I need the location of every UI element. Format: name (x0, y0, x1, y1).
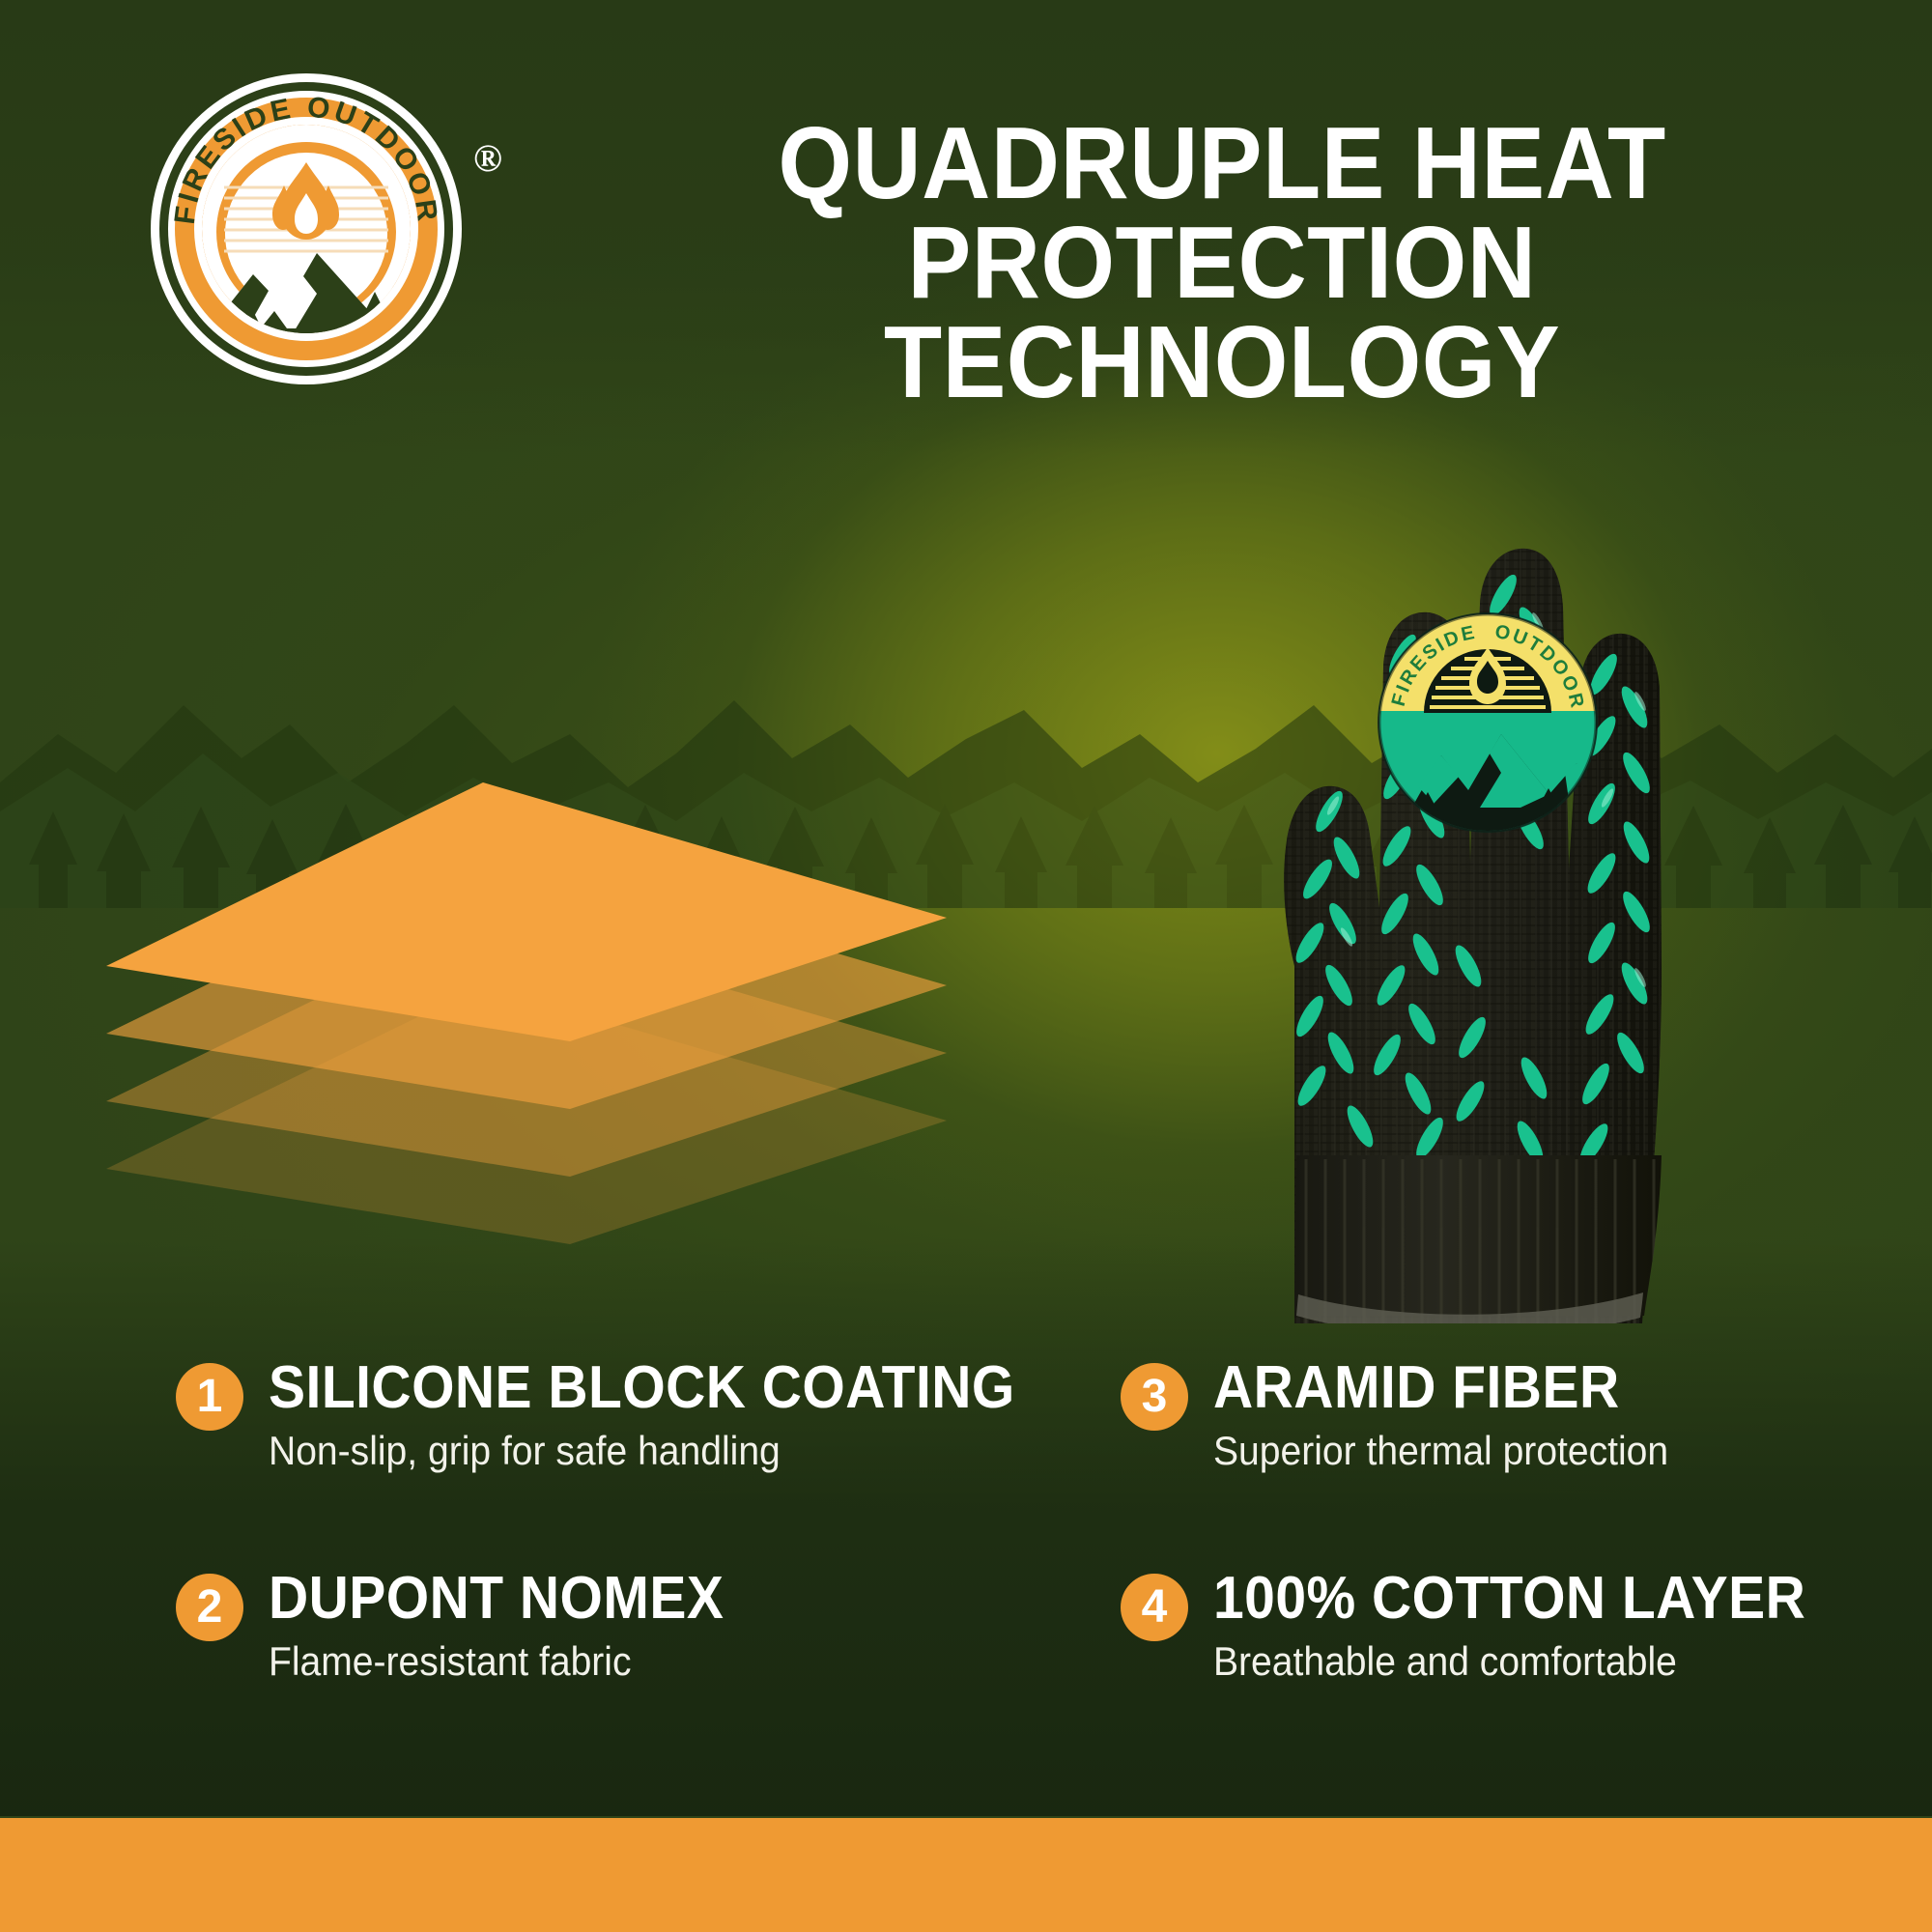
feature-number-badge: 2 (176, 1574, 243, 1641)
feature-item-1[interactable]: 1 SILICONE BLOCK COATING Non-slip, grip … (176, 1357, 949, 1475)
feature-title: 100% COTTON LAYER (1213, 1568, 1805, 1629)
feature-subtitle: Non-slip, grip for safe handling (269, 1428, 1023, 1474)
infographic-canvas: FIRESIDE OUTDOOR ® QUADRUPLE HEAT PROTEC… (0, 0, 1932, 1932)
feature-number-badge: 4 (1121, 1574, 1188, 1641)
glove-logo-patch: FIRESIDE OUTDOOR (1378, 612, 1598, 833)
layers-graphic (97, 782, 947, 1246)
features-list: 1 SILICONE BLOCK COATING Non-slip, grip … (0, 1357, 1932, 1811)
feature-item-3[interactable]: 3 ARAMID FIBER Superior thermal protecti… (1121, 1357, 1913, 1475)
feature-item-4[interactable]: 4 100% COTTON LAYER Breathable and comfo… (1121, 1568, 1913, 1686)
page-title: QUADRUPLE HEAT PROTECTION TECHNOLOGY (625, 114, 1820, 412)
registered-trademark-icon: ® (473, 135, 502, 181)
fireside-outdoor-logo: FIRESIDE OUTDOOR (147, 70, 466, 388)
feature-title: SILICONE BLOCK COATING (269, 1357, 1015, 1418)
product-glove-image: FIRESIDE OUTDOOR (1140, 425, 1758, 1323)
feature-subtitle: Flame-resistant fabric (269, 1638, 728, 1685)
feature-subtitle: Superior thermal protection (1213, 1428, 1668, 1474)
title-line-2: PROTECTION TECHNOLOGY (625, 213, 1820, 412)
feature-number-badge: 1 (176, 1363, 243, 1431)
title-line-1: QUADRUPLE HEAT (778, 106, 1665, 220)
feature-item-2[interactable]: 2 DUPONT NOMEX Flame-resistant fabric (176, 1568, 949, 1686)
header: FIRESIDE OUTDOOR ® QUADRUPLE HEAT PROTEC… (0, 0, 1932, 425)
glove-cuff (1294, 1140, 1662, 1323)
feature-subtitle: Breathable and comfortable (1213, 1638, 1812, 1685)
feature-number-badge: 3 (1121, 1363, 1188, 1431)
bottom-accent-bar (0, 1818, 1932, 1932)
feature-title: ARAMID FIBER (1213, 1357, 1663, 1418)
feature-title: DUPONT NOMEX (269, 1568, 724, 1629)
